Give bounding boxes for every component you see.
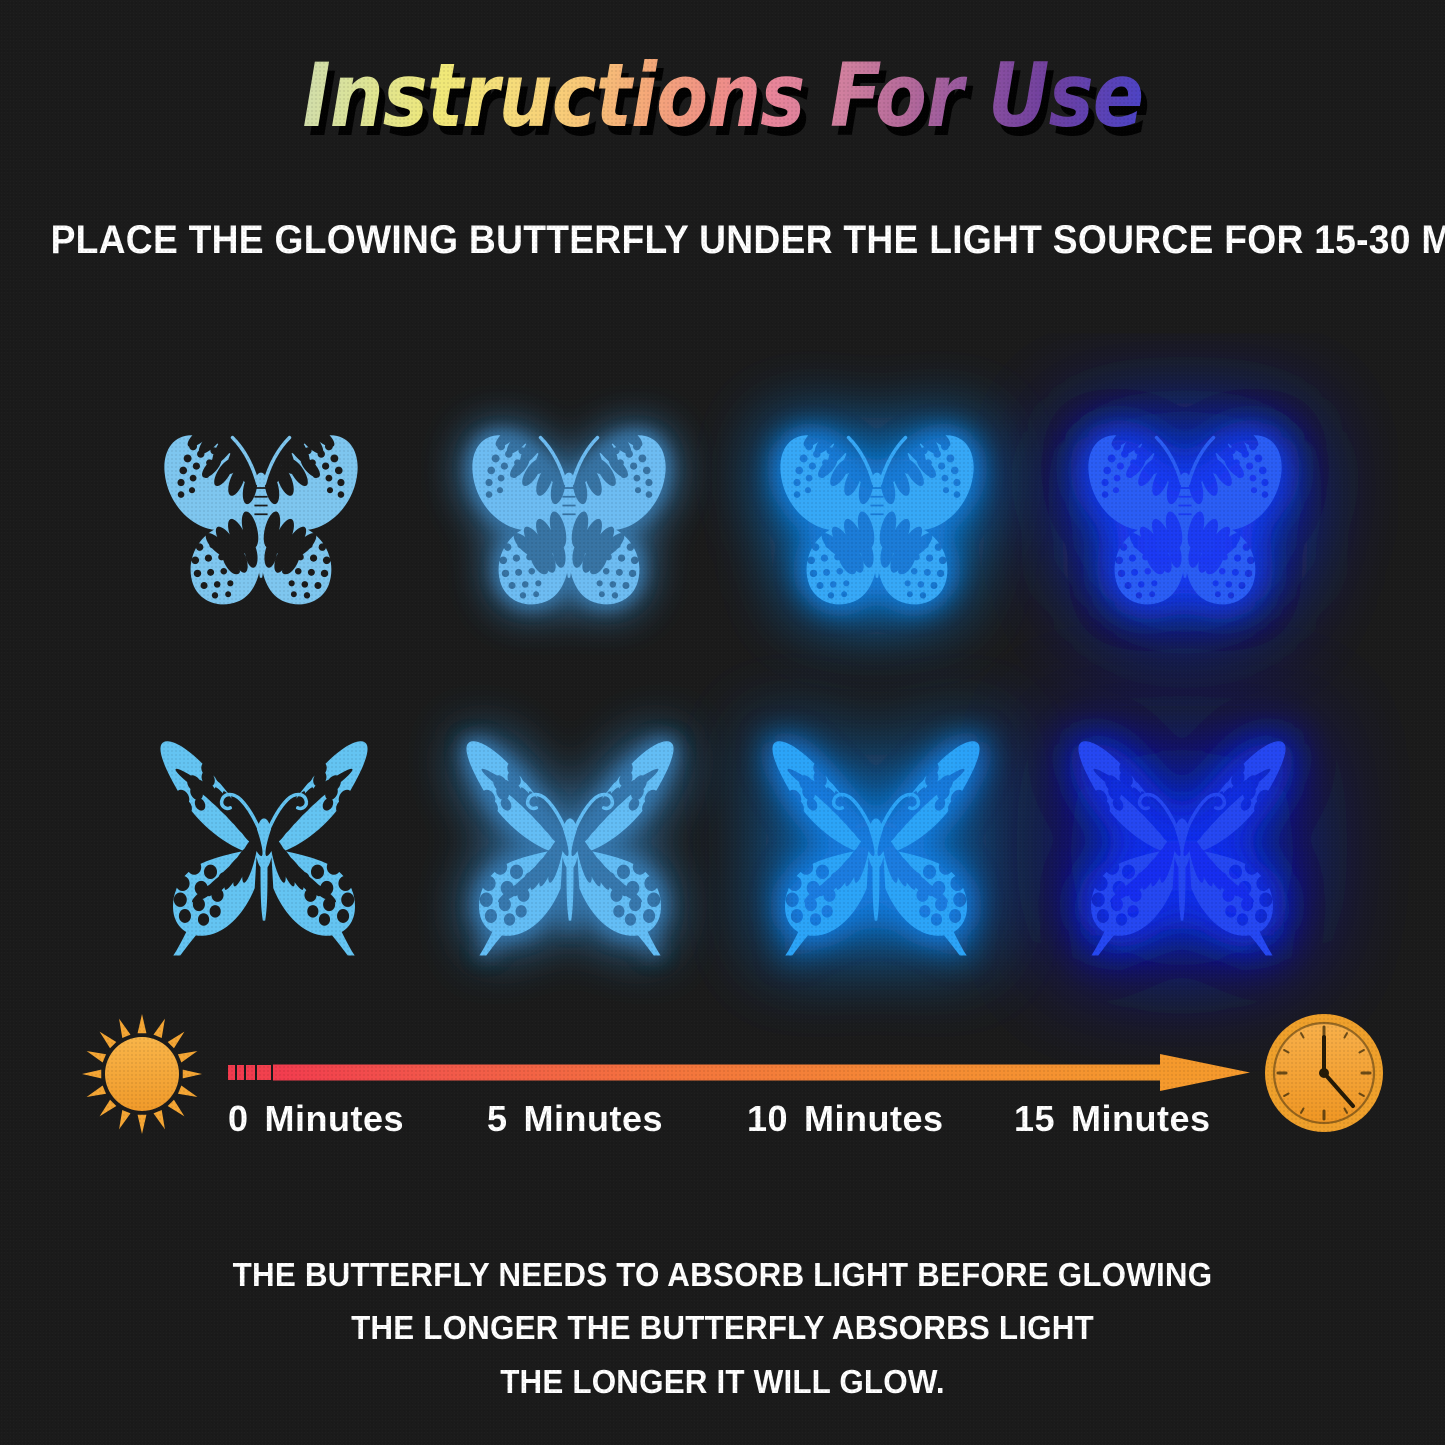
- tick-label-5: 5Minutes: [487, 1098, 663, 1140]
- butterfly-monarch-0-minutes: [125, 396, 397, 626]
- footer-line: THE LONGER THE BUTTERFLY ABSORBS LIGHT: [36, 1301, 1409, 1354]
- time-arrow: [228, 1052, 1250, 1092]
- title-container: Instructions For Use: [0, 52, 1445, 140]
- tick-unit: Minutes: [1071, 1098, 1211, 1139]
- tick-number: 15: [1014, 1098, 1055, 1139]
- tick-label-15: 15Minutes: [1014, 1098, 1211, 1140]
- footer-line: THE BUTTERFLY NEEDS TO ABSORB LIGHT BEFO…: [36, 1248, 1409, 1301]
- tick-unit: Minutes: [804, 1098, 944, 1139]
- butterfly-monarch-10-minutes: [741, 396, 1013, 626]
- butterfly-swallowtail-10-minutes: [733, 716, 1019, 966]
- tick-label-10: 10Minutes: [747, 1098, 944, 1140]
- tick-number: 0: [228, 1098, 249, 1139]
- clock-icon: [1261, 1010, 1387, 1136]
- butterfly-monarch-15-minutes: [1049, 396, 1321, 626]
- sun-icon: [78, 1010, 206, 1138]
- tick-unit: Minutes: [265, 1098, 405, 1139]
- monarch-butterfly-row: [0, 396, 1445, 626]
- tick-number: 5: [487, 1098, 508, 1139]
- subtitle-text: PLACE THE GLOWING BUTTERFLY UNDER THE LI…: [51, 218, 1395, 263]
- instruction-poster: Instructions For Use PLACE THE GLOWING B…: [0, 0, 1445, 1445]
- tick-unit: Minutes: [524, 1098, 664, 1139]
- page-title: Instructions For Use: [302, 52, 1143, 140]
- footer-text-block: THE BUTTERFLY NEEDS TO ABSORB LIGHT BEFO…: [0, 1248, 1445, 1408]
- butterfly-monarch-5-minutes: [433, 396, 705, 626]
- timeline-tick-labels: 0Minutes 5Minutes 10Minutes 15Minutes: [222, 1098, 1222, 1148]
- footer-line: THE LONGER IT WILL GLOW.: [36, 1355, 1409, 1408]
- butterfly-swallowtail-5-minutes: [427, 716, 713, 966]
- butterfly-swallowtail-0-minutes: [121, 716, 407, 966]
- tick-label-0: 0Minutes: [228, 1098, 404, 1140]
- tick-number: 10: [747, 1098, 788, 1139]
- butterfly-swallowtail-15-minutes: [1039, 716, 1325, 966]
- swallowtail-butterfly-row: [0, 716, 1445, 966]
